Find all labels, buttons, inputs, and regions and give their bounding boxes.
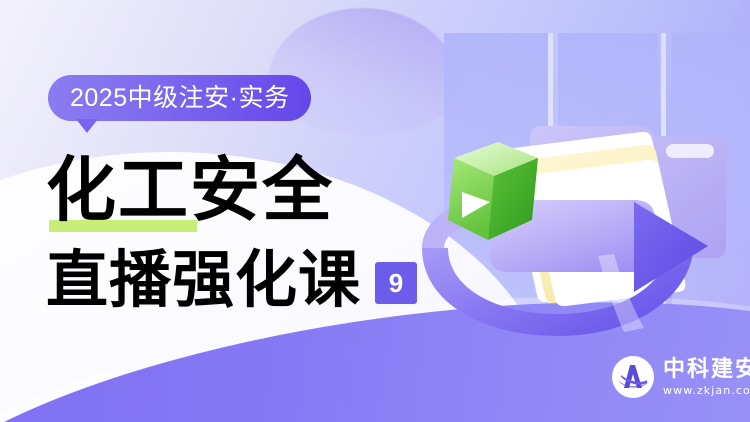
brand-name: 中科建安 (663, 358, 750, 380)
course-tagline-pill: 2025中级注安·实务 (48, 75, 311, 121)
headline-group: 化工安全 直播强化课 9 (46, 148, 446, 322)
headline-line2: 直播强化课 (46, 238, 361, 322)
pill-tail-pointer (76, 119, 98, 133)
course-tagline-text: 2025中级注安·实务 (70, 84, 289, 112)
folder-illustration (398, 96, 728, 346)
brand-url: www.zkjan.com (663, 385, 750, 396)
course-promo-banner: 2025中级注安·实务 化工安全 直播强化课 9 中科建安 www.zkjan.… (0, 0, 750, 422)
banner-text-content: 2025中级注安·实务 化工安全 直播强化课 9 (0, 0, 430, 422)
brand-logo-mark-icon (612, 356, 654, 398)
folder-illustration-svg (398, 96, 728, 346)
episode-number-badge: 9 (375, 262, 417, 304)
brand-logo[interactable]: 中科建安 www.zkjan.com (612, 356, 750, 398)
headline-line1: 化工安全 (46, 148, 334, 232)
headline-line1-block: 化工安全 (46, 148, 446, 232)
brand-logo-text: 中科建安 www.zkjan.com (663, 358, 750, 396)
headline-line2-block: 直播强化课 9 (46, 238, 446, 322)
